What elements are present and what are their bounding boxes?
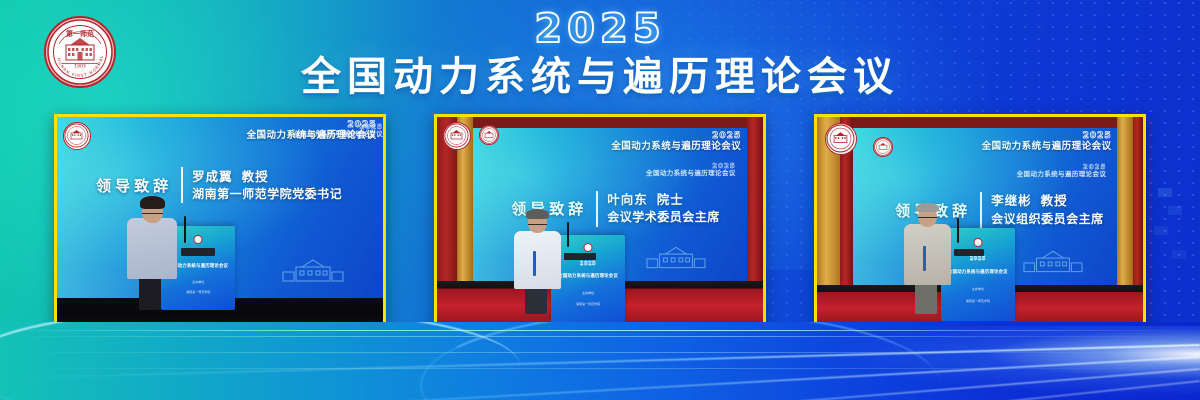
laptop-2	[564, 253, 596, 260]
podium-seal-icon-1	[194, 235, 203, 244]
campus-building-icon-3	[1023, 248, 1085, 276]
decor-pill-4	[1172, 250, 1186, 259]
campus-building-icon-1	[282, 257, 344, 285]
led-year-2: 2025	[611, 132, 741, 142]
speaker-figure-2	[512, 201, 564, 314]
microphone-3	[957, 218, 959, 243]
photo-card-2[interactable]: 2025 全国动力系统与遍历理论会议 2025 全国动力系统与遍历理论会议 领导…	[434, 114, 766, 330]
led-year-secondary-2: 2025	[646, 162, 736, 170]
speaker-name-1: 罗成翼	[192, 169, 233, 184]
speaker-figure-1	[125, 188, 181, 310]
led-header-secondary-1: 2025 全国动力系统与遍历理论会议	[293, 123, 383, 139]
photo-strip: 2025 全国动力系统与遍历理论会议 2025 全国动力系统与遍历理论会议 领导…	[0, 114, 1200, 330]
led-year-secondary-3: 2025	[1017, 163, 1107, 171]
microphone-2	[567, 222, 569, 247]
speaker-title-3: 教授	[1041, 193, 1068, 208]
campus-building-icon-2	[646, 244, 708, 272]
stage-seal-icon-2	[443, 122, 471, 150]
speaker-figure-3	[902, 193, 954, 315]
speaker-name-2: 叶向东	[607, 192, 648, 207]
speaker-name-3: 李继彬	[991, 193, 1032, 208]
decor-pill-2	[1168, 206, 1182, 215]
conference-banner: 第一师范 1903 HUNAN FIRST NORMAL UNIVERSITY …	[0, 0, 1200, 400]
laptop-1	[181, 248, 215, 256]
background-light-floor	[0, 322, 1200, 400]
speaker-title-2: 院士	[657, 192, 684, 207]
led-title-secondary-2: 全国动力系统与遍历理论会议	[646, 170, 736, 177]
microphone-1	[184, 216, 186, 243]
stage-seal-icon-secondary-2	[479, 125, 499, 145]
photo-card-3[interactable]: 2025 全国动力系统与遍历理论会议 2025 全国动力系统与遍历理论会议 领导…	[814, 114, 1146, 330]
speaker-title-1: 教授	[242, 169, 269, 184]
speaker-org-3: 会议组织委员会主席	[991, 211, 1104, 228]
stage-seal-icon-3	[825, 123, 857, 155]
decor-pill-1	[1158, 188, 1172, 197]
laptop-3	[954, 249, 984, 256]
photo-card-1[interactable]: 2025 全国动力系统与遍历理论会议 2025 全国动力系统与遍历理论会议 领导…	[54, 114, 386, 330]
podium-seal-icon-3	[973, 238, 982, 247]
led-year-3: 2025	[982, 132, 1112, 142]
led-title-secondary-3: 全国动力系统与遍历理论会议	[1017, 171, 1107, 178]
decor-pill-3	[1154, 226, 1168, 235]
speaker-org-2: 会议学术委员会主席	[607, 209, 720, 226]
divider	[980, 192, 982, 228]
led-title-3: 全国动力系统与遍历理论会议	[982, 142, 1112, 152]
svg-text:第一师范: 第一师范	[66, 29, 94, 38]
stage-seal-icon-1	[63, 122, 91, 150]
led-title-secondary-1: 全国动力系统与遍历理论会议	[293, 131, 383, 138]
divider	[596, 191, 598, 227]
stage-seal-icon-secondary-3	[873, 137, 893, 157]
university-seal-logo: 第一师范 1903 HUNAN FIRST NORMAL UNIVERSITY	[44, 16, 116, 88]
light-burst-right	[840, 326, 1200, 396]
speaker-org-1: 湖南第一师范学院党委书记	[192, 186, 342, 203]
seal-year-text: 1903	[74, 64, 86, 70]
podium-seal-icon-2	[584, 243, 593, 252]
led-title-2: 全国动力系统与遍历理论会议	[611, 142, 741, 152]
